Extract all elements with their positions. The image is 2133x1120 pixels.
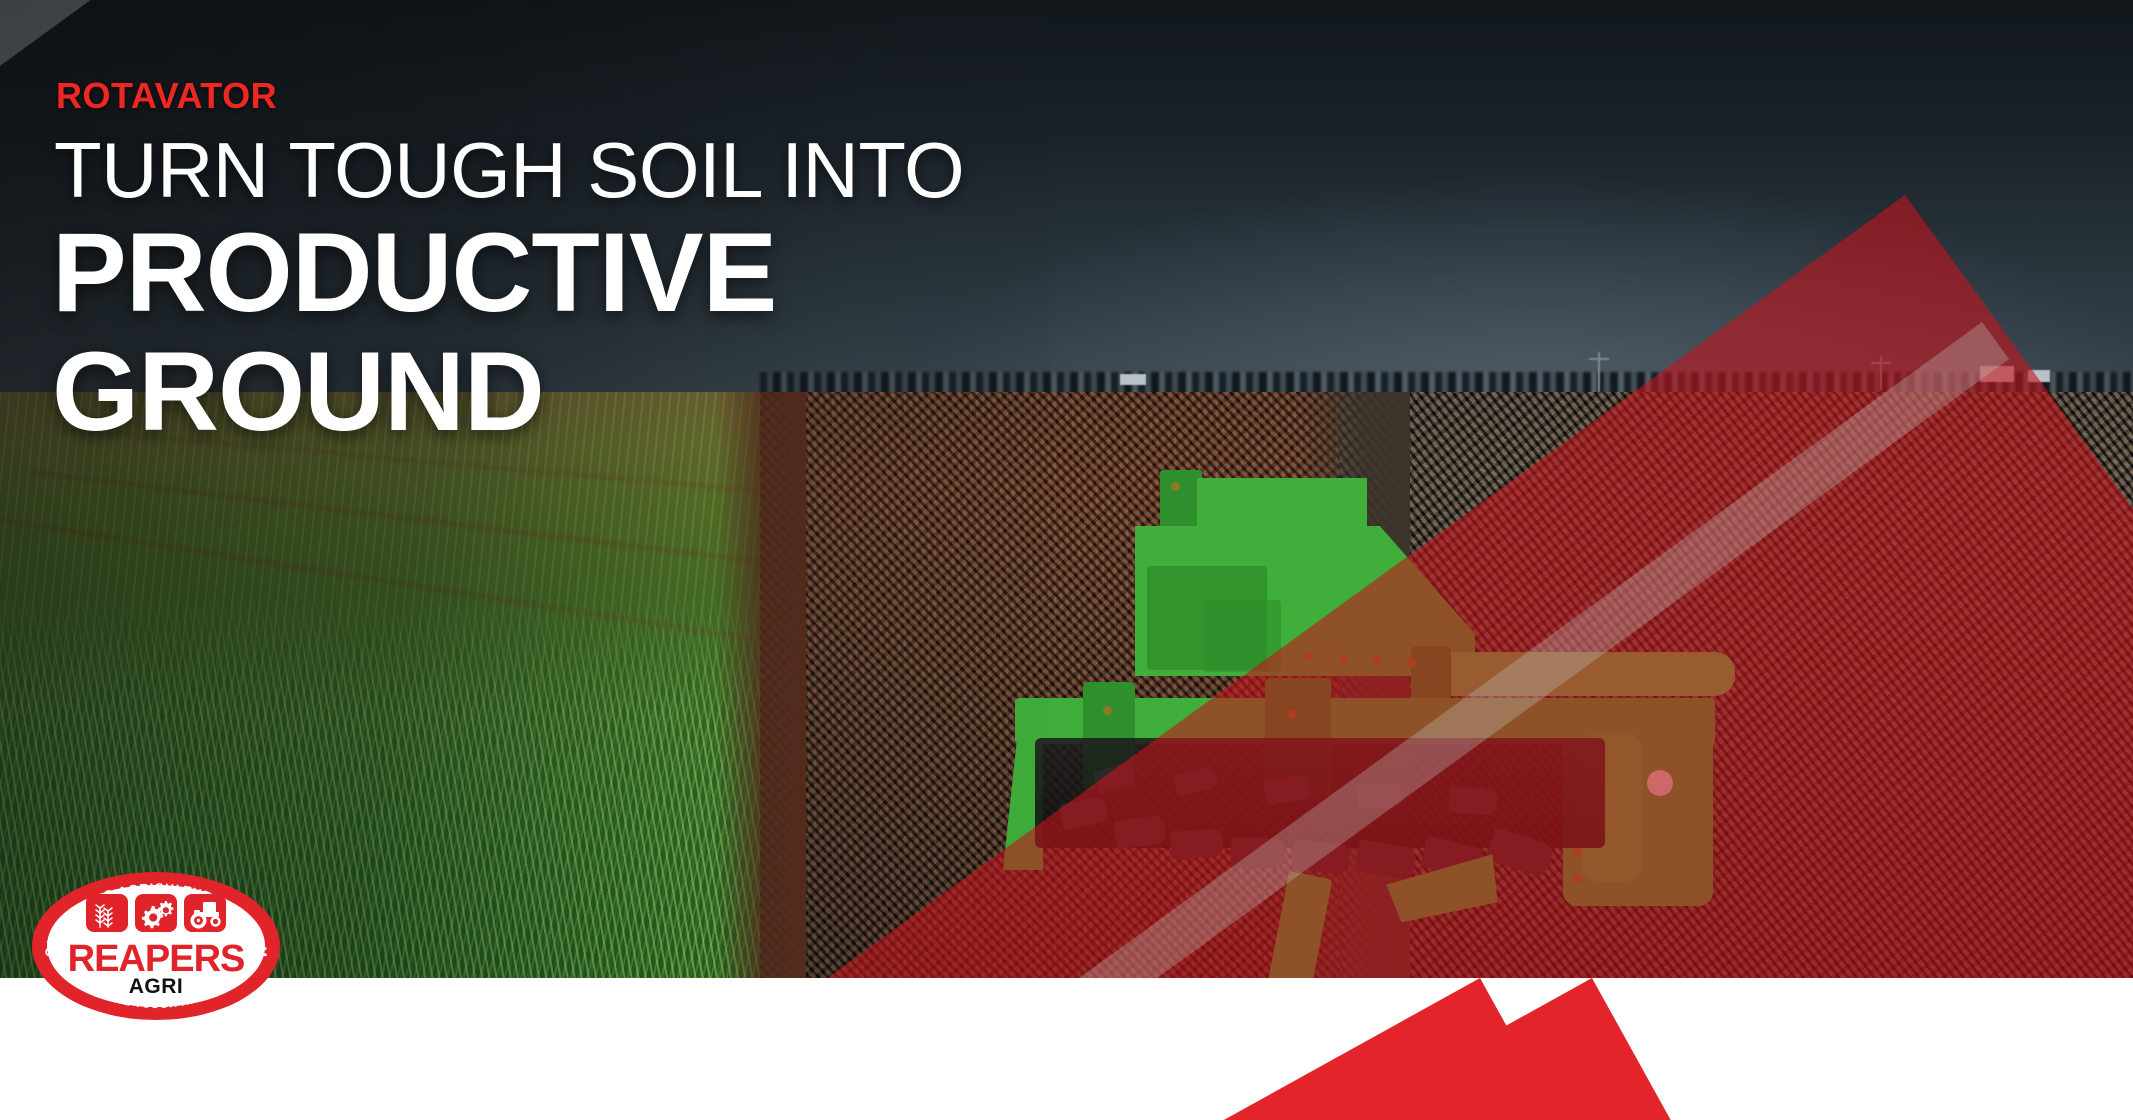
rotor-tine bbox=[1170, 828, 1224, 860]
rotavator-implement bbox=[975, 470, 1735, 978]
implement-gearbox-cap bbox=[1647, 770, 1673, 796]
logo-sub-wordmark: AGRI bbox=[32, 976, 280, 997]
wheat-icon bbox=[86, 894, 128, 932]
implement-tube-collar bbox=[1411, 646, 1451, 702]
implement-mast bbox=[1197, 478, 1367, 534]
hero-banner: ROTAVATOR TURN TOUGH SOIL INTO PRODUCTIV… bbox=[0, 0, 2133, 1120]
implement-bolt bbox=[1373, 656, 1382, 665]
implement-bolt bbox=[1171, 482, 1180, 491]
implement-bolt bbox=[1287, 710, 1296, 719]
power-pylon bbox=[1598, 352, 1600, 392]
headline-block: ROTAVATOR TURN TOUGH SOIL INTO PRODUCTIV… bbox=[52, 78, 1052, 452]
tractor-icon bbox=[184, 894, 226, 932]
farm-house bbox=[2028, 370, 2050, 382]
gears-icon bbox=[135, 894, 177, 932]
bottom-white-band bbox=[0, 978, 2133, 1120]
implement-bolt bbox=[1407, 658, 1416, 667]
implement-bolt bbox=[1573, 848, 1582, 857]
implement-bolt bbox=[1103, 706, 1112, 715]
implement-hood-shadow bbox=[1203, 600, 1281, 672]
farm-house bbox=[1120, 374, 1146, 385]
logo-icon-tiles bbox=[86, 894, 226, 932]
reapers-agri-logo[interactable]: TOUGH AS NAILS AGRICULTURAL EQUIPMENT MA… bbox=[32, 872, 280, 1020]
headline-line-1: TURN TOUGH SOIL INTO bbox=[54, 132, 1052, 208]
headline-line-2: PRODUCTIVE bbox=[52, 214, 1052, 333]
implement-bolt bbox=[1573, 874, 1582, 883]
implement-bolt bbox=[1305, 652, 1314, 661]
headline-line-3: GROUND bbox=[52, 333, 1052, 452]
rotor-tine bbox=[1448, 786, 1498, 815]
power-pylon bbox=[1880, 356, 1882, 390]
eyebrow-label: ROTAVATOR bbox=[56, 78, 1052, 114]
logo-wordmark: REAPERS bbox=[32, 940, 280, 978]
implement-bolt bbox=[1339, 654, 1348, 663]
implement-hitch-top bbox=[1160, 470, 1202, 530]
